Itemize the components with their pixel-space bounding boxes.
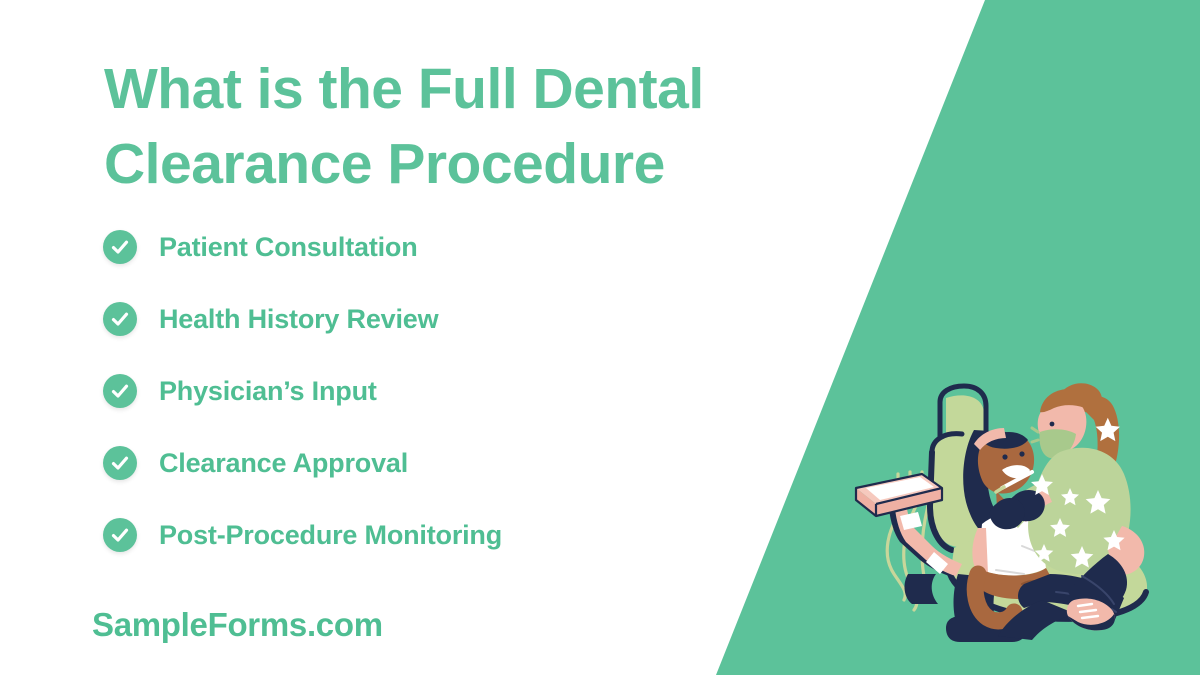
procedure-checklist: Patient Consultation Health History Revi… — [103, 230, 723, 552]
list-item: Physician’s Input — [103, 374, 723, 408]
page-title-line-2: Clearance Procedure — [104, 127, 764, 202]
list-item: Post-Procedure Monitoring — [103, 518, 723, 552]
check-circle-icon — [103, 446, 137, 480]
poster-canvas: What is the Full Dental Clearance Proced… — [0, 0, 1200, 675]
list-item: Health History Review — [103, 302, 723, 336]
list-item-label: Physician’s Input — [159, 376, 377, 407]
page-title: What is the Full Dental Clearance Proced… — [104, 52, 764, 202]
list-item-label: Patient Consultation — [159, 232, 418, 263]
check-circle-icon — [103, 230, 137, 264]
list-item-label: Health History Review — [159, 304, 438, 335]
check-circle-icon — [103, 518, 137, 552]
page-title-line-1: What is the Full Dental — [104, 52, 764, 127]
dental-clearance-illustration — [846, 378, 1182, 666]
list-item-label: Clearance Approval — [159, 448, 408, 479]
list-item-label: Post-Procedure Monitoring — [159, 520, 502, 551]
brand-wordmark: SampleForms.com — [92, 606, 383, 644]
list-item: Clearance Approval — [103, 446, 723, 480]
check-circle-icon — [103, 374, 137, 408]
list-item: Patient Consultation — [103, 230, 723, 264]
check-circle-icon — [103, 302, 137, 336]
